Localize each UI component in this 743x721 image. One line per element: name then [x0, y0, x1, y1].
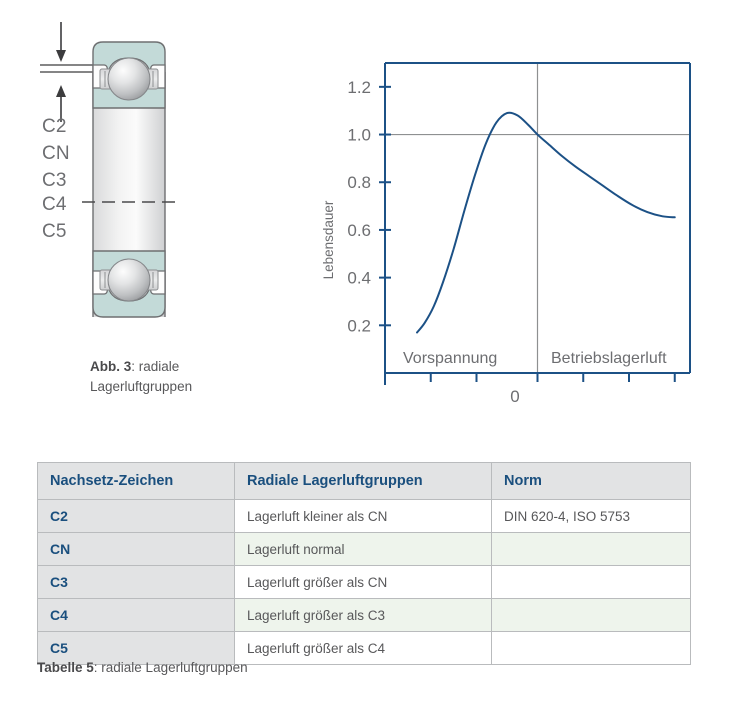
table-cell-description: Lagerluft größer als C3 — [235, 599, 492, 632]
clearance-label-c5: C5 — [42, 221, 67, 243]
table-cell-description: Lagerluft größer als C4 — [235, 632, 492, 665]
clearance-label-cn: CN — [42, 143, 70, 165]
chart-y-axis-title: Lebensdauer — [321, 200, 336, 279]
chart-y-tick-labels: 0.20.40.60.81.01.2 — [347, 78, 371, 335]
table-cell-norm — [492, 632, 691, 665]
chart-y-tick-label: 1.0 — [347, 126, 371, 145]
chart-y-tick-label: 0.2 — [347, 316, 371, 335]
rolling-element-ball-top — [108, 58, 150, 100]
table-caption: Tabelle 5: radiale Lagerluftgruppen — [37, 660, 248, 675]
life-vs-clearance-chart: 0.20.40.60.81.01.2 0 Vorspannung Betrieb… — [305, 40, 715, 430]
arrow-head-down-icon — [56, 50, 66, 62]
table-header-radiale-lagerluftgruppen: Radiale Lagerluftgruppen — [235, 463, 492, 500]
table-cell-norm — [492, 599, 691, 632]
table-cell-code: C3 — [38, 566, 235, 599]
figure-caption: Abb. 3: radiale Lagerluftgruppen — [90, 357, 280, 396]
clearance-label-c3: C3 — [42, 170, 67, 192]
table-row: CNLagerluft normal — [38, 533, 691, 566]
table-header-norm: Norm — [492, 463, 691, 500]
table-cell-description: Lagerluft normal — [235, 533, 492, 566]
table-cell-norm: DIN 620-4, ISO 5753 — [492, 500, 691, 533]
chart-y-tick-label: 0.8 — [347, 173, 371, 192]
clearance-label-c2: C2 — [42, 116, 67, 138]
chart-region-label-operating-clearance: Betriebslagerluft — [551, 350, 667, 367]
chart-x-tick-marks — [431, 373, 675, 382]
table-row: C4Lagerluft größer als C3 — [38, 599, 691, 632]
chart-region-label-preload: Vorspannung — [403, 350, 497, 367]
table-cell-code: C4 — [38, 599, 235, 632]
table-cell-description: Lagerluft größer als CN — [235, 566, 492, 599]
chart-zero-tick-label: 0 — [510, 387, 519, 406]
chart-svg-canvas: 0.20.40.60.81.01.2 0 Vorspannung Betrieb… — [305, 40, 715, 430]
bearing-figure-panel: C2 CN C3 C4 C5 Abb. 3: radiale Lagerluft… — [0, 0, 300, 430]
table-cell-norm — [492, 533, 691, 566]
table-body: C2Lagerluft kleiner als CNDIN 620-4, ISO… — [38, 500, 691, 665]
table-cell-norm — [492, 566, 691, 599]
table-header-nachsetz-zeichen: Nachsetz-Zeichen — [38, 463, 235, 500]
table-cell-code: C2 — [38, 500, 235, 533]
table-cell-description: Lagerluft kleiner als CN — [235, 500, 492, 533]
arrow-head-up-icon — [56, 85, 66, 97]
table-row: C2Lagerluft kleiner als CNDIN 620-4, ISO… — [38, 500, 691, 533]
clearance-label-c4: C4 — [42, 194, 67, 216]
table-caption-label: Tabelle 5 — [37, 660, 94, 675]
table-header-row: Nachsetz-Zeichen Radiale Lagerluftgruppe… — [38, 463, 691, 500]
clearance-groups-table: Nachsetz-Zeichen Radiale Lagerluftgruppe… — [37, 462, 691, 665]
chart-line-series-lebensdauer — [417, 113, 675, 333]
chart-y-tick-label: 0.6 — [347, 221, 371, 240]
table-cell-code: CN — [38, 533, 235, 566]
chart-y-tick-label: 1.2 — [347, 78, 371, 97]
chart-gridlines — [385, 63, 690, 373]
figure-caption-label: Abb. 3 — [90, 359, 131, 374]
chart-y-tick-label: 0.4 — [347, 269, 371, 288]
table-row: C3Lagerluft größer als CN — [38, 566, 691, 599]
rolling-element-ball-bottom — [108, 259, 150, 301]
table-caption-text: : radiale Lagerluftgruppen — [94, 660, 248, 675]
